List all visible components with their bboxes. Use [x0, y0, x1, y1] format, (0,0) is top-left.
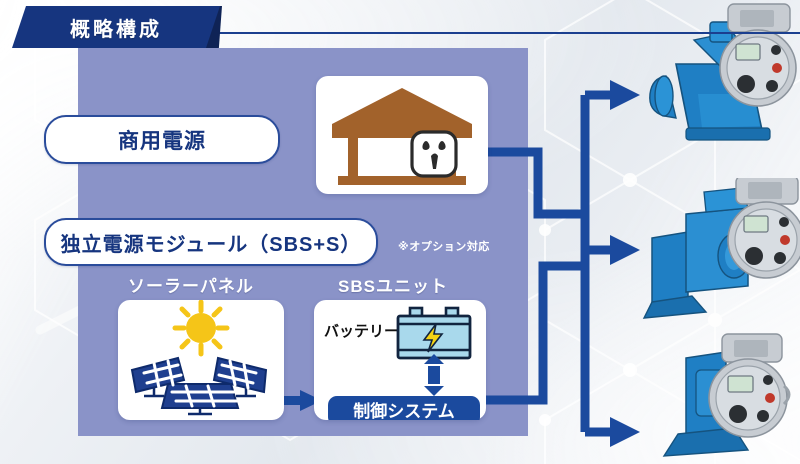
power-outlet-icon — [412, 132, 456, 176]
caption-sbs-unit: SBSユニット — [338, 272, 448, 297]
control-system-bar: 制御システム — [328, 396, 480, 420]
solar-panel-icon — [118, 300, 284, 420]
commercial-power-text: 商用電源 — [118, 125, 206, 155]
diagram-canvas: 概略構成 商用電源 独立電源モジュール（SBS+S） ※オプション対応 ソーラー… — [0, 0, 800, 464]
control-system-label: 制御システム — [353, 401, 455, 420]
independent-module-text: 独立電源モジュール（SBS+S） — [61, 228, 362, 257]
card-commercial-building — [316, 76, 488, 194]
battery-icon — [398, 308, 470, 358]
sun-icon — [175, 302, 227, 354]
output-arrowheads — [610, 80, 640, 447]
warehouse-icon — [316, 76, 488, 194]
option-note: ※オプション対応 — [398, 238, 490, 254]
caption-solar-panel: ソーラーパネル — [128, 272, 254, 297]
card-solar-panel — [118, 300, 284, 420]
label-independent-module: 独立電源モジュール（SBS+S） — [44, 218, 378, 266]
battery-control-arrow — [424, 354, 444, 396]
label-commercial-power: 商用電源 — [44, 115, 280, 164]
battery-label: バッテリー — [324, 323, 399, 340]
card-sbs-unit: バッテリー 制御システム — [314, 300, 486, 420]
